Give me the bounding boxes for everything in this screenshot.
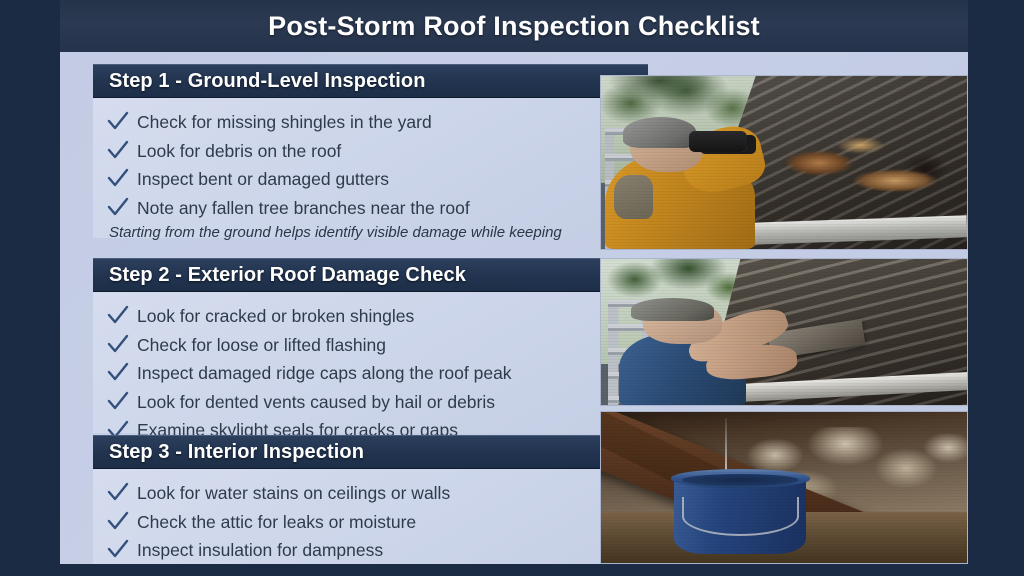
inspector-figure [605,121,788,249]
content-card: Step 1 - Ground-Level Inspection Check f… [60,52,968,564]
checklist-item[interactable]: Look for dented vents caused by hail or … [93,388,658,417]
checklist-item[interactable]: Inspect insulation for dampness [93,536,658,564]
photo-3-scene [601,412,967,563]
checkmark-icon [107,391,137,411]
poster-root: Post-Storm Roof Inspection Checklist Ste… [0,0,1024,576]
step-2-heading: Step 2 - Exterior Roof Damage Check [109,264,466,287]
step-1-header-bar: Step 1 - Ground-Level Inspection [93,64,648,98]
step-2-body: Look for cracked or broken shingles Chec… [93,292,658,433]
step-1-photo [600,75,968,250]
step-3-header-bar: Step 3 - Interior Inspection [93,435,658,469]
checkmark-icon [107,539,137,559]
checklist-item-label: Look for dented vents caused by hail or … [137,389,495,416]
checkmark-icon [107,362,137,382]
step-1-body: Check for missing shingles in the yard L… [93,98,605,238]
checklist-item-label: Inspect bent or damaged gutters [137,166,389,193]
checkmark-icon [107,111,137,131]
step-block-3: Step 3 - Interior Inspection Look for wa… [93,435,658,564]
step-2-header-bar: Step 2 - Exterior Roof Damage Check [93,258,658,292]
footer-strip [0,564,1024,576]
step-3-heading: Step 3 - Interior Inspection [109,441,364,464]
title-banner: Post-Storm Roof Inspection Checklist [60,0,968,52]
step-1-note: Starting from the ground helps identify … [93,222,605,241]
checkmark-icon [107,482,137,502]
checklist-item[interactable]: Look for water stains on ceilings or wal… [93,479,658,508]
checklist-item-label: Look for cracked or broken shingles [137,303,414,330]
checklist-item-label: Look for debris on the roof [137,138,341,165]
checklist-item[interactable]: Check for missing shingles in the yard [93,108,605,137]
inspector-figure [619,300,817,405]
checklist-item-label: Inspect insulation for dampness [137,537,383,564]
hair [631,298,714,321]
checklist-item-label: Look for water stains on ceilings or wal… [137,480,450,507]
checkmark-icon [107,511,137,531]
roof-damage-area [762,131,952,211]
bucket-interior [682,474,799,486]
checklist-item[interactable]: Look for debris on the roof [93,137,605,166]
checklist-item-label: Check the attic for leaks or moisture [137,509,416,536]
checklist-item[interactable]: Check the attic for leaks or moisture [93,508,658,537]
checkmark-icon [107,334,137,354]
step-2-photo [600,258,968,406]
step-3-body: Look for water stains on ceilings or wal… [93,469,658,564]
checklist-item-label: Inspect damaged ridge caps along the roo… [137,360,512,387]
checkmark-icon [107,197,137,217]
checklist-item-label: Check for loose or lifted flashing [137,332,386,359]
step-1-heading: Step 1 - Ground-Level Inspection [109,70,426,93]
checklist-item[interactable]: Inspect bent or damaged gutters [93,165,605,194]
bucket-handle [682,497,799,536]
checkmark-icon [107,305,137,325]
hair [623,117,696,148]
checklist-item[interactable]: Note any fallen tree branches near the r… [93,194,605,223]
checklist-item-label: Check for missing shingles in the yard [137,109,432,136]
binoculars-icon [689,131,748,151]
checklist-item-label: Note any fallen tree branches near the r… [137,195,470,222]
checklist-item[interactable]: Check for loose or lifted flashing [93,331,658,360]
checklist-item[interactable]: Look for cracked or broken shingles [93,302,658,331]
page-title: Post-Storm Roof Inspection Checklist [268,11,760,42]
step-block-1: Step 1 - Ground-Level Inspection Check f… [93,64,648,238]
checkmark-icon [107,140,137,160]
step-3-photo [600,411,968,564]
photo-2-scene [601,259,967,405]
photo-1-scene [601,76,967,249]
checkmark-icon [107,168,137,188]
checklist-item[interactable]: Inspect damaged ridge caps along the roo… [93,359,658,388]
step-block-2: Step 2 - Exterior Roof Damage Check Look… [93,258,658,433]
